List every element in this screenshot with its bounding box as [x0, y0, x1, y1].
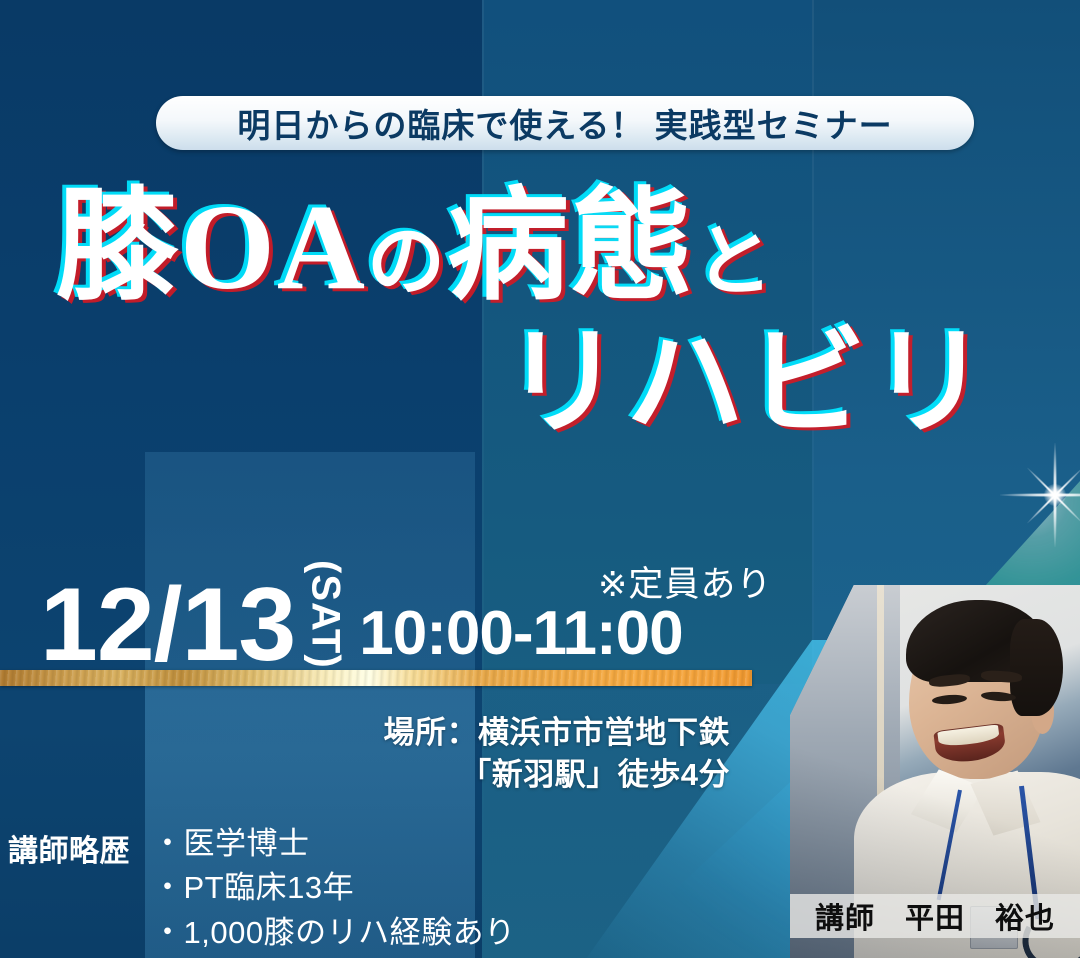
title-part-knee-oa: 膝OA [56, 180, 367, 315]
lecturer-name: 講師 平田 裕也 [815, 895, 1055, 937]
venue-line-1: 場所：横浜市市営地下鉄 [330, 712, 730, 754]
title-part-no: の [367, 218, 447, 305]
title-part-to: と [695, 218, 775, 305]
bio-label: 講師略歴 [8, 826, 130, 870]
bio-list: 医学博士 PT臨床13年 1,000膝のリハ経験あり [152, 822, 516, 955]
list-item: 医学博士 [152, 822, 516, 866]
title-part-pathology: 病態 [447, 180, 695, 315]
schedule-row: 12/13 (SAT) 10:00-11:00 [40, 560, 683, 675]
tagline-text: 明日からの臨床で使える！ 実践型セミナー [237, 99, 892, 147]
title-line-2: リハビリ [0, 324, 1080, 444]
venue-block: 場所：横浜市市営地下鉄 「新羽駅」徒歩4分 [330, 712, 730, 796]
seminar-poster: 明日からの臨床で使える！ 実践型セミナー 膝OAの病態と リハビリ ※定員あり … [0, 0, 1080, 958]
list-item: PT臨床13年 [152, 866, 516, 910]
tagline-badge: 明日からの臨床で使える！ 実践型セミナー [156, 96, 974, 150]
venue-line-2: 「新羽駅」徒歩4分 [330, 754, 730, 796]
event-time: 10:00-11:00 [359, 603, 682, 665]
list-item: 1,000膝のリハ経験あり [152, 911, 516, 955]
title-line-1: 膝OAの病態と [56, 186, 1080, 310]
poster-title: 膝OAの病態と リハビリ [0, 186, 1080, 445]
event-date: 12/13 [40, 576, 295, 675]
lecturer-name-band: 講師 平田 裕也 [790, 894, 1080, 938]
gold-divider [0, 670, 752, 686]
event-weekday: (SAT) [305, 560, 345, 669]
